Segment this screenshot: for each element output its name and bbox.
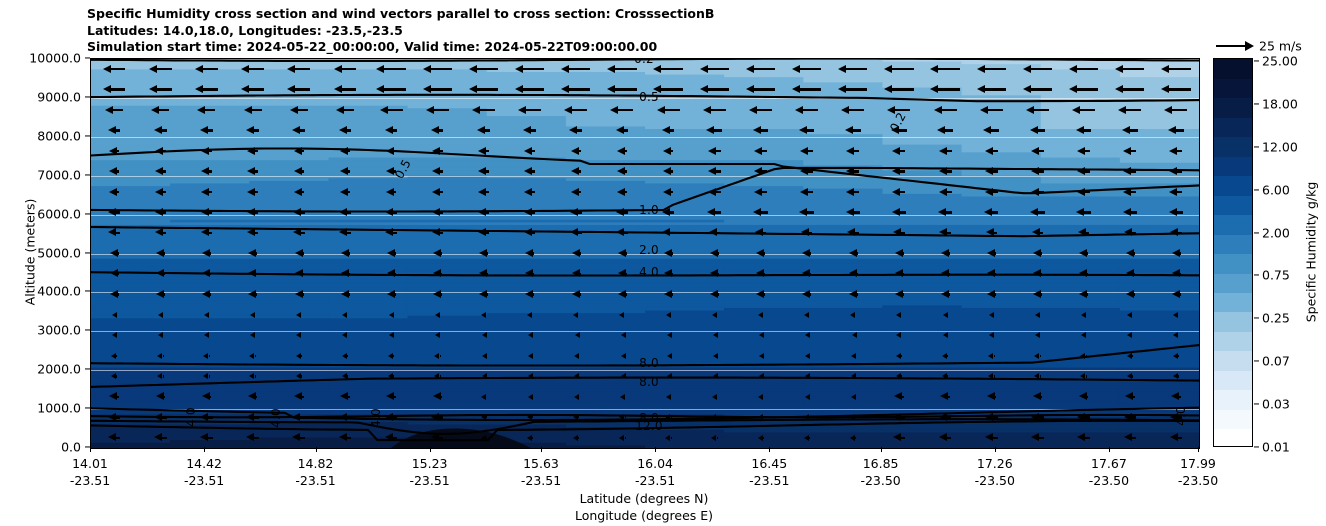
contour-label: 4.0: [369, 409, 383, 429]
x-tick-mark: [1198, 447, 1199, 452]
chart-title: Specific Humidity cross section and wind…: [87, 6, 714, 56]
colorbar-tick-label: 2.00: [1262, 225, 1290, 240]
y-tick-label: 1000.0: [37, 401, 81, 416]
y-tick-mark: [85, 330, 90, 331]
x-tick-mark: [316, 447, 317, 452]
x-tick-mark: [995, 447, 996, 452]
y-tick-mark: [85, 174, 90, 175]
x-tick-label: 15.23-23.51: [409, 455, 449, 489]
colorbar-tick-label: 12.00: [1262, 139, 1298, 154]
title-line-1: Specific Humidity cross section and wind…: [87, 6, 714, 23]
x-tick-label: 14.01-23.51: [70, 455, 110, 489]
colorbar-title: Specific Humidity g/kg: [1304, 182, 1319, 323]
contour-label: 2.0: [639, 243, 659, 257]
colorbar[interactable]: [1213, 58, 1253, 447]
plot-area[interactable]: 0.20.50.50.21.02.04.08.08.08.012.04.04.0…: [90, 58, 1200, 449]
contour-label: 12.0: [635, 419, 663, 433]
y-tick-label: 0.0: [61, 440, 81, 455]
x-tick-label: 17.26-23.50: [975, 455, 1015, 489]
x-axis-title-longitude: Longitude (degrees E): [90, 507, 1198, 524]
y-tick-label: 5000.0: [37, 245, 81, 260]
y-tick-mark: [85, 213, 90, 214]
colorbar-tick-label: 0.01: [1262, 440, 1290, 455]
contour-label: 0.5: [639, 90, 659, 104]
contour-label: 8.0: [639, 356, 659, 370]
figure-canvas: Specific Humidity cross section and wind…: [0, 0, 1326, 526]
quiver-reference-label: 25 m/s: [1259, 39, 1302, 54]
contour-label: 4.0: [1174, 406, 1188, 426]
x-tick-mark: [769, 447, 770, 452]
y-tick-mark: [85, 135, 90, 136]
colorbar-tick-mark: [1254, 318, 1259, 319]
y-tick-label: 9000.0: [37, 89, 81, 104]
x-tick-mark: [881, 447, 882, 452]
colorbar-tick-mark: [1254, 232, 1259, 233]
y-tick-mark: [85, 369, 90, 370]
y-axis-title: Altitude (meters): [23, 199, 38, 306]
x-tick-label: 16.45-23.51: [749, 455, 789, 489]
y-tick-label: 2000.0: [37, 362, 81, 377]
contour-label: 0.2: [887, 110, 909, 134]
colorbar-tick-mark: [1254, 446, 1259, 447]
colorbar-tick-mark: [1254, 103, 1259, 104]
x-tick-label: 17.99-23.50: [1178, 455, 1218, 489]
y-tick-mark: [85, 96, 90, 97]
contour-label: 4.0: [184, 407, 198, 427]
x-tick-mark: [1109, 447, 1110, 452]
contour-labels: 0.20.50.50.21.02.04.08.08.08.012.04.04.0…: [91, 59, 1199, 448]
title-line-2: Latitudes: 14.0,18.0, Longitudes: -23.5,…: [87, 23, 714, 40]
colorbar-tick-mark: [1254, 275, 1259, 276]
y-tick-mark: [85, 408, 90, 409]
colorbar-tick-label: 0.07: [1262, 354, 1290, 369]
x-tick-label: 14.42-23.51: [184, 455, 224, 489]
contour-label: 0.5: [392, 157, 414, 181]
x-tick-label: 16.04-23.51: [635, 455, 675, 489]
y-tick-label: 6000.0: [37, 206, 81, 221]
x-tick-mark: [655, 447, 656, 452]
x-tick-label: 16.85-23.50: [860, 455, 900, 489]
colorbar-tick-mark: [1254, 361, 1259, 362]
contour-label: 8.0: [639, 375, 659, 389]
x-tick-mark: [430, 447, 431, 452]
x-tick-mark: [90, 447, 91, 452]
contour-label: 4.0: [269, 408, 283, 428]
contour-label: 1.0: [639, 203, 659, 217]
colorbar-tick-label: 18.00: [1262, 96, 1298, 111]
colorbar-tick-mark: [1254, 146, 1259, 147]
x-tick-mark: [204, 447, 205, 452]
y-tick-mark: [85, 291, 90, 292]
colorbar-tick-label: 0.25: [1262, 311, 1290, 326]
x-tick-label: 15.63-23.51: [521, 455, 561, 489]
x-axis-title-latitude: Latitude (degrees N): [90, 490, 1198, 507]
y-tick-mark: [85, 252, 90, 253]
x-tick-label: 14.82-23.51: [295, 455, 335, 489]
colorbar-tick-mark: [1254, 189, 1259, 190]
y-tick-label: 3000.0: [37, 323, 81, 338]
contour-label: 4.0: [639, 265, 659, 279]
contour-label: 0.2: [634, 58, 654, 66]
y-tick-label: 8000.0: [37, 128, 81, 143]
title-line-3: Simulation start time: 2024-05-22_00:00:…: [87, 39, 714, 56]
colorbar-tick-label: 6.00: [1262, 182, 1290, 197]
x-tick-mark: [541, 447, 542, 452]
y-tick-label: 4000.0: [37, 284, 81, 299]
colorbar-tick-label: 0.03: [1262, 397, 1290, 412]
colorbar-tick-label: 25.00: [1262, 54, 1298, 69]
colorbar-tick-mark: [1254, 404, 1259, 405]
y-tick-mark: [85, 57, 90, 58]
x-tick-label: 17.67-23.50: [1089, 455, 1129, 489]
colorbar-tick-label: 0.75: [1262, 268, 1290, 283]
y-tick-label: 7000.0: [37, 167, 81, 182]
y-tick-label: 10000.0: [29, 51, 81, 66]
colorbar-tick-mark: [1254, 60, 1259, 61]
